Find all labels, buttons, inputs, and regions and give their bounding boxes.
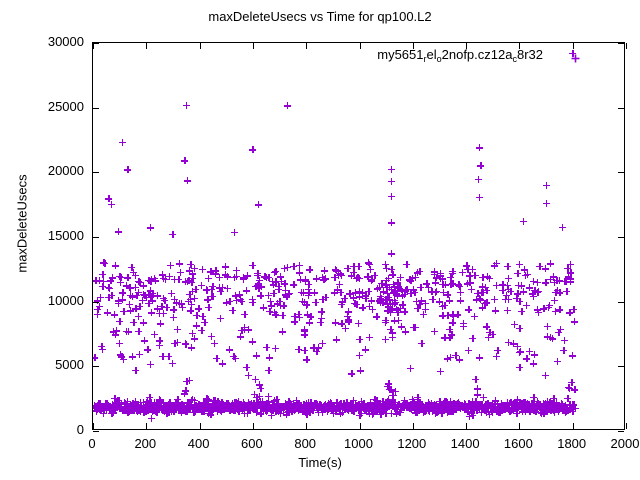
data-point <box>460 403 467 410</box>
data-point <box>427 403 434 410</box>
data-point <box>168 403 175 410</box>
data-point <box>333 399 340 406</box>
data-point <box>500 402 507 409</box>
data-point <box>260 401 267 408</box>
data-point <box>505 404 512 411</box>
data-point <box>535 309 542 316</box>
data-point <box>285 398 292 405</box>
data-point <box>113 402 120 409</box>
data-point <box>104 404 111 411</box>
data-point <box>456 402 463 409</box>
data-point <box>111 311 118 318</box>
data-point <box>309 407 316 414</box>
data-point <box>345 407 352 414</box>
data-point <box>449 270 456 277</box>
data-point <box>224 400 231 407</box>
data-point <box>269 401 276 408</box>
data-point <box>249 405 256 412</box>
data-point <box>325 406 332 413</box>
data-point <box>377 400 384 407</box>
data-point <box>446 297 453 304</box>
data-point <box>122 401 129 408</box>
data-point <box>503 404 510 411</box>
data-point <box>431 271 438 278</box>
data-point <box>139 406 146 413</box>
data-point <box>226 403 233 410</box>
data-point <box>388 166 395 173</box>
data-point <box>426 401 433 408</box>
data-point <box>111 407 118 414</box>
data-point <box>467 404 474 411</box>
data-point <box>356 406 363 413</box>
data-point <box>457 297 464 304</box>
data-point <box>358 398 365 405</box>
data-point <box>290 281 297 288</box>
data-point <box>447 354 454 361</box>
data-point <box>432 410 439 417</box>
data-point <box>394 280 401 287</box>
data-point <box>484 403 491 410</box>
data-point <box>294 400 301 407</box>
data-point <box>129 293 136 300</box>
data-point <box>289 405 296 412</box>
data-point <box>555 408 562 415</box>
data-point <box>412 401 419 408</box>
data-point <box>341 295 348 302</box>
data-point <box>290 401 297 408</box>
data-point <box>222 263 229 270</box>
data-point <box>187 403 194 410</box>
data-point <box>123 328 130 335</box>
data-point <box>423 407 430 414</box>
data-point <box>439 281 446 288</box>
data-point <box>347 404 354 411</box>
data-point <box>115 397 122 404</box>
data-point <box>355 404 362 411</box>
data-point <box>112 262 119 269</box>
data-point <box>476 405 483 412</box>
data-point <box>275 408 282 415</box>
data-point <box>488 402 495 409</box>
data-point <box>473 407 480 414</box>
data-point <box>317 319 324 326</box>
data-point <box>513 410 520 417</box>
data-point <box>188 344 195 351</box>
data-point <box>512 403 519 410</box>
data-point <box>522 272 529 279</box>
data-point <box>474 401 481 408</box>
data-point <box>495 406 502 413</box>
data-point <box>387 401 394 408</box>
data-point <box>202 402 209 409</box>
data-point <box>517 403 524 410</box>
data-point <box>158 400 165 407</box>
data-point <box>144 346 151 353</box>
data-point <box>499 404 506 411</box>
data-point <box>224 285 231 292</box>
x-tick <box>200 43 201 49</box>
data-point <box>322 294 329 301</box>
data-point <box>456 401 463 408</box>
data-point <box>205 410 212 417</box>
data-point <box>116 340 123 347</box>
data-point <box>236 291 243 298</box>
data-point <box>569 352 576 359</box>
data-point <box>367 402 374 409</box>
data-point <box>447 400 454 407</box>
data-point <box>459 404 466 411</box>
data-point <box>440 404 447 411</box>
data-point <box>152 408 159 415</box>
data-point <box>451 404 458 411</box>
data-point <box>121 400 128 407</box>
data-point <box>385 396 392 403</box>
data-point <box>414 402 421 409</box>
data-point <box>128 402 135 409</box>
data-point <box>508 401 515 408</box>
data-point <box>254 272 261 279</box>
data-point <box>156 342 163 349</box>
data-point <box>230 404 237 411</box>
data-point <box>410 401 417 408</box>
data-point <box>320 405 327 412</box>
data-point <box>437 275 444 282</box>
data-point <box>105 195 112 202</box>
data-point <box>157 320 164 327</box>
data-point <box>163 304 170 311</box>
data-point <box>165 409 172 416</box>
data-point <box>507 399 514 406</box>
data-point <box>323 403 330 410</box>
data-point <box>438 405 445 412</box>
data-point <box>231 229 238 236</box>
data-point <box>566 385 573 392</box>
data-point <box>499 407 506 414</box>
data-point <box>490 406 497 413</box>
data-point <box>187 307 194 314</box>
data-point <box>514 290 521 297</box>
data-point <box>308 406 315 413</box>
data-point <box>571 386 578 393</box>
data-point <box>100 410 107 417</box>
data-point <box>211 340 218 347</box>
data-point <box>296 262 303 269</box>
data-point <box>305 286 312 293</box>
data-point <box>569 405 576 412</box>
data-point <box>362 292 369 299</box>
data-point <box>371 396 378 403</box>
data-point <box>253 404 260 411</box>
data-point <box>306 409 313 416</box>
data-point <box>273 400 280 407</box>
data-point <box>388 410 395 417</box>
data-point <box>281 265 288 272</box>
data-point <box>219 360 226 367</box>
data-point <box>241 404 248 411</box>
data-point <box>250 400 257 407</box>
data-point <box>401 308 408 315</box>
data-point <box>484 273 491 280</box>
data-point <box>408 406 415 413</box>
data-point <box>370 403 377 410</box>
x-tick <box>360 423 361 429</box>
data-point <box>394 309 401 316</box>
data-point <box>437 368 444 375</box>
data-point <box>126 301 133 308</box>
data-point <box>129 353 136 360</box>
data-point <box>127 402 134 409</box>
data-point <box>97 406 104 413</box>
data-point <box>412 324 419 331</box>
data-point <box>351 300 358 307</box>
data-point <box>246 405 253 412</box>
data-point <box>162 405 169 412</box>
data-point <box>294 401 301 408</box>
data-point <box>295 311 302 318</box>
data-point <box>423 280 430 287</box>
data-point <box>555 329 562 336</box>
data-point <box>453 404 460 411</box>
data-point <box>432 279 439 286</box>
data-point <box>517 403 524 410</box>
data-point <box>489 409 496 416</box>
data-point <box>505 275 512 282</box>
data-point <box>355 263 362 270</box>
data-point <box>353 402 360 409</box>
data-point <box>365 406 372 413</box>
data-point <box>279 404 286 411</box>
data-point <box>366 261 373 268</box>
data-point <box>414 305 421 312</box>
data-point <box>300 289 307 296</box>
data-point <box>170 405 177 412</box>
data-point <box>327 403 334 410</box>
data-point <box>331 405 338 412</box>
data-point <box>318 308 325 315</box>
data-point <box>243 404 250 411</box>
data-point <box>334 404 341 411</box>
data-point <box>124 166 131 173</box>
data-point <box>260 304 267 311</box>
y-tick-label: 10000 <box>0 293 84 308</box>
data-point <box>116 273 123 280</box>
data-point <box>301 327 308 334</box>
data-point <box>186 403 193 410</box>
data-point <box>322 404 329 411</box>
data-point <box>283 293 290 300</box>
data-point <box>535 400 542 407</box>
data-point <box>272 408 279 415</box>
data-point <box>547 398 554 405</box>
data-point <box>567 404 574 411</box>
data-point <box>203 405 210 412</box>
data-point <box>265 292 272 299</box>
data-point <box>389 329 396 336</box>
data-point <box>536 401 543 408</box>
data-point <box>347 405 354 412</box>
data-point <box>378 403 385 410</box>
data-point <box>284 102 291 109</box>
data-point <box>142 404 149 411</box>
data-point <box>522 406 529 413</box>
data-point <box>343 399 350 406</box>
data-point <box>255 401 262 408</box>
data-point <box>135 289 142 296</box>
data-point <box>395 317 402 324</box>
data-point <box>325 404 332 411</box>
data-point <box>397 403 404 410</box>
data-point <box>422 306 429 313</box>
data-point <box>241 324 248 331</box>
data-point <box>303 403 310 410</box>
data-point <box>208 293 215 300</box>
data-point <box>179 403 186 410</box>
data-point <box>147 287 154 294</box>
data-point <box>298 403 305 410</box>
data-point <box>156 396 163 403</box>
data-point <box>555 404 562 411</box>
data-point <box>355 406 362 413</box>
data-point <box>523 401 530 408</box>
data-point <box>335 404 342 411</box>
data-point <box>514 270 521 277</box>
data-point <box>117 403 124 410</box>
data-point <box>490 403 497 410</box>
data-point <box>403 404 410 411</box>
data-point <box>213 400 220 407</box>
data-point <box>164 402 171 409</box>
data-point <box>376 297 383 304</box>
data-point <box>200 401 207 408</box>
data-point <box>191 295 198 302</box>
data-point <box>219 404 226 411</box>
data-point <box>306 266 313 273</box>
data-point <box>245 399 252 406</box>
data-point <box>224 405 231 412</box>
data-point <box>95 402 102 409</box>
data-point <box>118 274 125 281</box>
data-point <box>93 404 98 411</box>
data-point <box>204 296 211 303</box>
data-point <box>124 409 131 416</box>
data-point <box>198 327 205 334</box>
data-point <box>471 406 478 413</box>
data-point <box>157 400 164 407</box>
data-point <box>462 403 469 410</box>
data-point <box>329 407 336 414</box>
data-point <box>282 400 289 407</box>
data-point <box>265 367 272 374</box>
data-point <box>329 402 336 409</box>
data-point <box>347 401 354 408</box>
data-point <box>527 406 534 413</box>
data-point <box>248 404 255 411</box>
data-point <box>183 102 190 109</box>
data-point <box>174 339 181 346</box>
data-point <box>465 402 472 409</box>
data-point <box>437 270 444 277</box>
data-point <box>211 397 218 404</box>
data-point <box>420 311 427 318</box>
data-point <box>301 402 308 409</box>
data-point <box>191 397 198 404</box>
data-point <box>218 399 225 406</box>
data-point <box>230 407 237 414</box>
data-point <box>118 353 125 360</box>
data-point <box>161 408 168 415</box>
y-tick <box>618 366 624 367</box>
data-point <box>147 287 154 294</box>
data-point <box>366 303 373 310</box>
data-point <box>343 403 350 410</box>
data-point <box>213 402 220 409</box>
data-point <box>521 399 528 406</box>
data-point <box>417 406 424 413</box>
data-point <box>238 327 245 334</box>
data-point <box>99 346 106 353</box>
data-point <box>301 405 308 412</box>
data-point <box>446 408 453 415</box>
data-point <box>319 407 326 414</box>
data-point <box>433 274 440 281</box>
data-point <box>449 311 456 318</box>
data-point <box>280 405 287 412</box>
data-point <box>380 404 387 411</box>
data-point <box>337 289 344 296</box>
data-point <box>538 404 545 411</box>
data-point <box>504 282 511 289</box>
data-point <box>385 380 392 387</box>
data-point <box>548 401 555 408</box>
data-point <box>442 403 449 410</box>
data-point <box>385 275 392 282</box>
data-point <box>194 404 201 411</box>
data-point <box>284 404 291 411</box>
data-point <box>185 298 192 305</box>
data-point <box>391 283 398 290</box>
data-point <box>170 408 177 415</box>
data-point <box>409 403 416 410</box>
data-point <box>140 319 147 326</box>
data-point <box>532 408 539 415</box>
data-point <box>197 405 204 412</box>
data-point <box>118 405 125 412</box>
data-point <box>345 318 352 325</box>
data-point <box>467 404 474 411</box>
data-point <box>283 411 290 418</box>
data-point <box>567 406 574 413</box>
data-point <box>348 407 355 414</box>
data-point <box>99 403 106 410</box>
data-point <box>535 288 542 295</box>
data-point <box>440 400 447 407</box>
data-point <box>115 228 122 235</box>
data-point <box>196 406 203 413</box>
data-point <box>549 403 556 410</box>
data-point <box>254 270 261 277</box>
data-point <box>272 311 279 318</box>
data-point <box>291 318 298 325</box>
data-point <box>427 405 434 412</box>
data-point <box>217 407 224 414</box>
data-point <box>281 404 288 411</box>
data-point <box>238 298 245 305</box>
data-point <box>216 284 223 291</box>
data-point <box>540 410 547 417</box>
data-point <box>149 404 156 411</box>
data-point <box>114 397 121 404</box>
data-point <box>500 404 507 411</box>
